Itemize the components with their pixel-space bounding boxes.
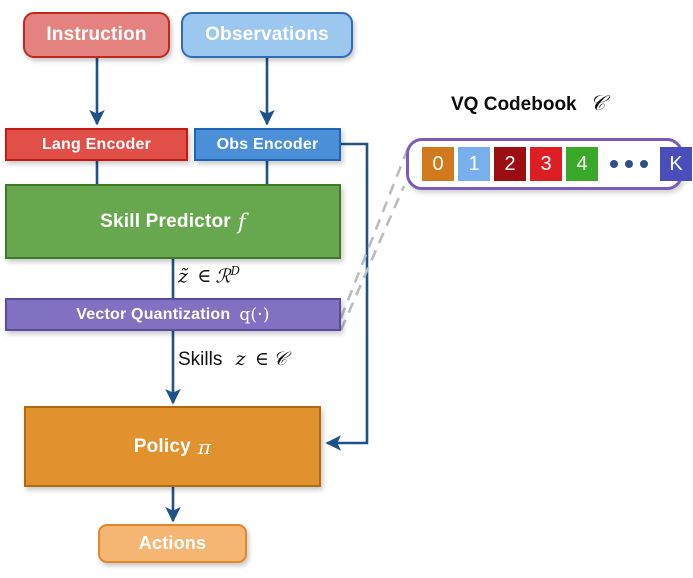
- edge-vq-to-codebook-lower: [341, 186, 404, 330]
- codebook-cell-0[interactable]: 0: [422, 147, 454, 181]
- codebook-cell-k[interactable]: K: [660, 147, 692, 181]
- codebook-cell-list: 01234K: [422, 147, 692, 181]
- node-instruction-label: Instruction: [46, 24, 146, 46]
- edge-layer: [0, 0, 693, 578]
- node-obs-encoder-label: Obs Encoder: [217, 136, 319, 154]
- node-obs-encoder[interactable]: Obs Encoder: [194, 128, 341, 161]
- node-policy-label: Policy: [134, 436, 191, 458]
- edge-label-z-tilde-space: ℛ: [215, 265, 230, 287]
- node-vector-quantization-symbol: q(·): [239, 305, 269, 325]
- edge-label-skills: Skills z ∈𝒞: [178, 348, 287, 371]
- edge-label-skills-relation: ∈: [255, 348, 269, 370]
- edge-label-skills-var: z: [236, 348, 246, 370]
- codebook-cell-2[interactable]: 2: [494, 147, 526, 181]
- node-lang-encoder[interactable]: Lang Encoder: [5, 128, 188, 161]
- node-policy-symbol: π: [198, 435, 211, 459]
- codebook-ellipsis-dot: [640, 160, 648, 168]
- codebook-title: VQ Codebook 𝒞: [451, 91, 605, 116]
- codebook-panel[interactable]: 01234K: [406, 138, 683, 190]
- node-skill-predictor-label: Skill Predictor: [100, 211, 231, 233]
- node-skill-predictor[interactable]: Skill Predictor f: [5, 184, 341, 259]
- node-actions[interactable]: Actions: [98, 524, 247, 563]
- node-lang-encoder-label: Lang Encoder: [42, 136, 151, 154]
- node-vector-quantization-label: Vector Quantization: [76, 306, 230, 324]
- node-observations[interactable]: Observations: [181, 12, 353, 58]
- edge-vq-to-codebook-upper: [341, 148, 408, 318]
- codebook-ellipsis: [602, 160, 656, 168]
- codebook-cell-4[interactable]: 4: [566, 147, 598, 181]
- codebook-ellipsis-dot: [610, 160, 618, 168]
- codebook-title-text: VQ Codebook: [451, 94, 577, 115]
- codebook-title-symbol: 𝒞: [590, 91, 605, 115]
- edge-label-z-tilde-relation: ∈: [197, 265, 211, 287]
- diagram-canvas: Instruction Observations Lang Encoder Ob…: [0, 0, 693, 578]
- node-policy[interactable]: Policy π: [24, 406, 321, 487]
- edge-label-z-tilde-var: z̃: [178, 265, 188, 287]
- codebook-ellipsis-dot: [625, 160, 633, 168]
- node-instruction[interactable]: Instruction: [23, 12, 170, 58]
- node-actions-label: Actions: [139, 533, 206, 554]
- codebook-cell-1[interactable]: 1: [458, 147, 490, 181]
- node-skill-predictor-symbol: f: [238, 210, 246, 234]
- edge-label-z-tilde: z̃ ∈ℛD: [178, 264, 240, 288]
- edge-label-z-tilde-exponent: D: [231, 264, 240, 278]
- edge-label-skills-prefix: Skills: [178, 349, 222, 370]
- edge-label-skills-space: 𝒞: [273, 348, 287, 370]
- node-observations-label: Observations: [205, 24, 329, 46]
- node-vector-quantization[interactable]: Vector Quantization q(·): [5, 298, 341, 331]
- codebook-cell-3[interactable]: 3: [530, 147, 562, 181]
